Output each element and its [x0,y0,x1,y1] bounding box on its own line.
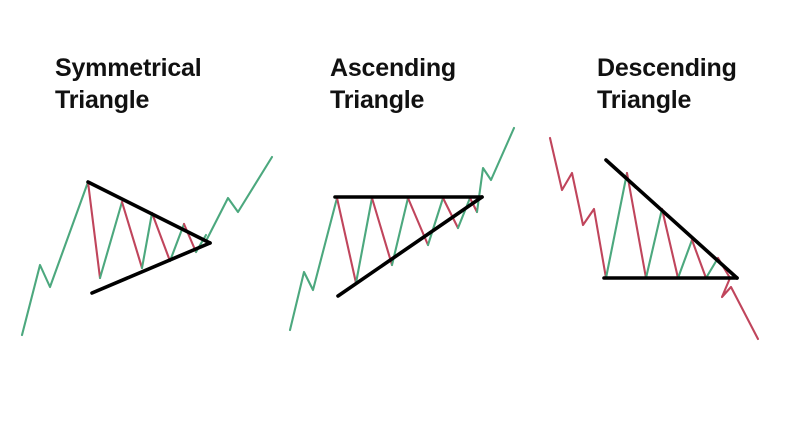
descending-triangle-swing-1-up [606,173,627,278]
ascending-triangle-lower-trendline [338,197,482,296]
descending-triangle-breakout-trend [722,278,758,339]
descending-triangle-swing-5-up [678,240,692,278]
pattern-group-symmetrical-triangle [22,157,272,335]
pattern-group-ascending-triangle [290,128,514,330]
symmetrical-triangle-swing-3-down [122,202,142,268]
pattern-group-descending-triangle [550,138,758,339]
chart-canvas: Symmetrical Triangle Ascending Triangle … [0,0,800,442]
ascending-triangle-swing-3-down [372,198,392,265]
ascending-triangle-breakout-trend [477,128,514,212]
symmetrical-triangle-swing-2-up [100,202,122,278]
symmetrical-triangle-swing-4-up [142,213,152,268]
descending-triangle-leadin-trend [550,138,606,278]
ascending-triangle-leadin-trend [290,198,337,330]
symmetrical-triangle-leadin-trend [22,182,88,335]
symmetrical-triangle-breakout-trend [206,157,272,241]
descending-triangle-swing-3-up [646,209,662,278]
symmetrical-triangle-lower-trendline [92,243,210,293]
triangle-patterns-svg [0,0,800,442]
ascending-triangle-swing-2-up [356,198,372,283]
ascending-triangle-swing-6-up [428,198,443,245]
symmetrical-triangle-swing-1-down [88,182,100,278]
ascending-triangle-swing-1-down [337,198,356,283]
descending-triangle-upper-trendline [606,160,737,278]
